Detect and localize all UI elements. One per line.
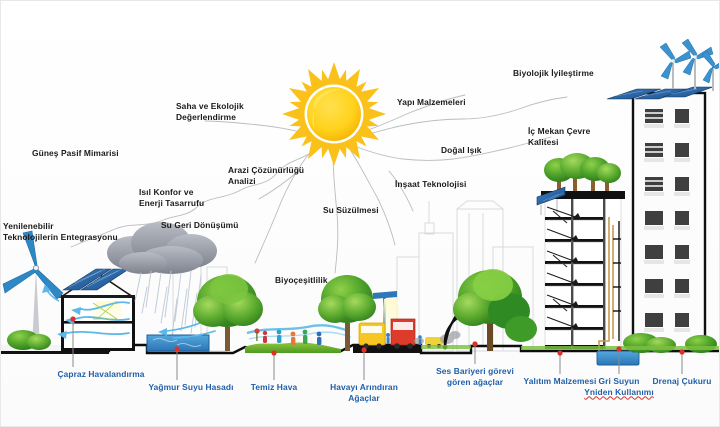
truck bbox=[391, 319, 415, 349]
infographic-canvas: Güneş Pasif MimarisiYenilenebilir Teknol… bbox=[0, 0, 720, 427]
label-isil-konfor: Isıl Konfor ve Enerji Tasarrufu bbox=[139, 187, 204, 208]
label-yagmur-suyu-hasadi: Yağmur Suyu Hasadı bbox=[136, 382, 246, 393]
label-dogal-isik: Doğal Işık bbox=[441, 145, 482, 156]
marker-temiz-hava bbox=[271, 350, 276, 355]
label-capraz-havalandirma: Çapraz Havalandırma bbox=[41, 369, 161, 380]
gri-suyun-yeniden-kullanimi-line2: Yniden Kullanımı bbox=[584, 387, 654, 397]
label-drenaj-cukuru: Drenaj Çukuru bbox=[644, 376, 720, 387]
label-havayi-arindiran-agaclar: Havayı Arındıran Ağaçlar bbox=[319, 382, 409, 403]
label-ic-mekan-cevre-kalitesi: İç Mekan Çevre Kalitesi bbox=[528, 126, 590, 147]
label-saha-ve-ekolojik: Saha ve Ekolojik Değerlendirme bbox=[176, 101, 244, 122]
gri-suyun-yeniden-kullanimi-line1: Gri Suyun bbox=[599, 376, 640, 386]
marker-yagmur-suyu-hasadi bbox=[174, 346, 179, 351]
label-biyocesitlilik: Biyoçeşitlilik bbox=[275, 275, 328, 286]
label-su-suzulmesi: Su Süzülmesi bbox=[323, 205, 379, 216]
label-arazi-cozunurlugu: Arazi Çözünürlüğü Analizi bbox=[228, 165, 304, 186]
label-insaat-teknolojisi: İnşaat Teknolojisi bbox=[395, 179, 466, 190]
label-gunes-pasif-mimarisi: Güneş Pasif Mimarisi bbox=[32, 148, 119, 159]
marker-yalitim-malzemesi bbox=[557, 350, 562, 355]
marker-drenaj-cukuru bbox=[679, 349, 684, 354]
label-biyolojik-iyilestirme: Biyolojik İyileştirme bbox=[513, 68, 594, 79]
greywater-tank bbox=[597, 351, 639, 365]
label-yapi-malzemeleri: Yapı Malzemeleri bbox=[397, 97, 466, 108]
label-temiz-hava: Temiz Hava bbox=[239, 382, 309, 393]
label-su-geri-donusumu: Su Geri Dönüşümü bbox=[161, 220, 238, 231]
bus bbox=[359, 323, 385, 349]
marker-havayi-arindiran-agaclar bbox=[361, 347, 366, 352]
label-yenilenebilir-teknolojiler: Yenilenebilir Teknolojilerin Entegrasyon… bbox=[3, 221, 118, 242]
marker-gri-suyun-yeniden-kullanimi bbox=[616, 346, 621, 351]
marker-capraz-havalandirma bbox=[70, 316, 75, 321]
marker-ses-bariyeri-agaclar bbox=[472, 341, 477, 346]
